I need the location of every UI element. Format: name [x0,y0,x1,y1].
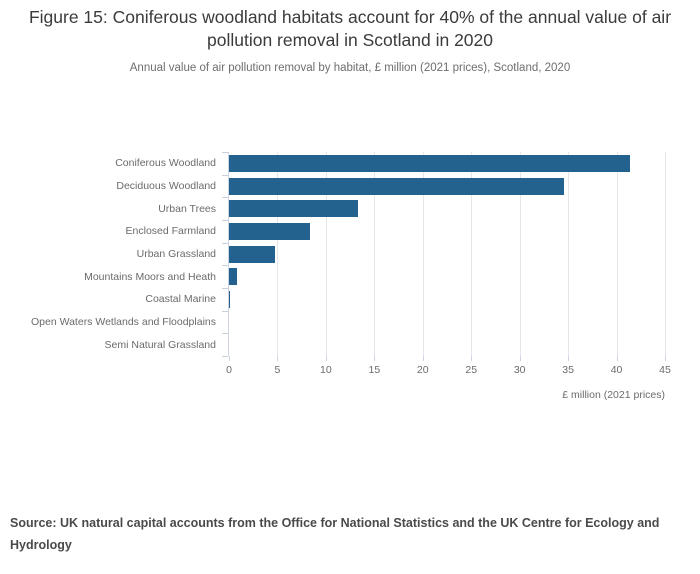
x-axis-tick [277,356,278,361]
x-axis-tick [520,356,521,361]
bar[interactable] [229,291,230,308]
y-axis-category-label: Urban Grassland [0,248,216,260]
x-axis-tick [423,356,424,361]
y-axis-tick [222,311,228,312]
title-block: Figure 15: Coniferous woodland habitats … [0,6,700,76]
page-title: Figure 15: Coniferous woodland habitats … [0,6,700,52]
chart-plot-wrapper: Coniferous WoodlandDeciduous WoodlandUrb… [0,140,700,370]
bar[interactable] [229,155,630,172]
x-gridline [568,152,569,356]
x-axis-tick-label: 5 [275,364,281,376]
x-axis-tick [374,356,375,361]
bar[interactable] [229,246,275,263]
x-axis-tick [617,356,618,361]
y-axis-tick [222,220,228,221]
x-axis-tick [229,356,230,361]
y-axis-category-label: Semi Natural Grassland [0,339,216,351]
x-axis-tick [326,356,327,361]
y-axis-category-label: Open Waters Wetlands and Floodplains [0,316,216,328]
x-axis-tick-label: 20 [417,364,429,376]
x-gridline [665,152,666,356]
bar[interactable] [229,200,358,217]
y-axis-tick [222,333,228,334]
x-axis-tick-label: 10 [320,364,332,376]
x-axis-tick-label: 40 [611,364,623,376]
y-axis-category-label: Enclosed Farmland [0,225,216,237]
x-axis-tick-label: 15 [368,364,380,376]
y-axis-tick [222,175,228,176]
y-axis-tick [222,356,228,357]
y-axis-tick [222,243,228,244]
y-axis-tick [222,197,228,198]
x-axis-tick-label: 35 [562,364,574,376]
x-axis-tick [665,356,666,361]
plot-area: 051015202530354045£ million (2021 prices… [229,152,665,356]
y-axis-tick [222,152,228,153]
figure-container: Figure 15: Coniferous woodland habitats … [0,0,700,574]
bar[interactable] [229,178,564,195]
y-axis-category-label: Mountains Moors and Heath [0,271,216,283]
y-axis-category-label: Deciduous Woodland [0,180,216,192]
y-axis-tick [222,288,228,289]
y-axis-tick [222,265,228,266]
x-axis-tick-label: 30 [514,364,526,376]
y-axis-category-label: Coastal Marine [0,293,216,305]
x-axis-tick [568,356,569,361]
x-axis-tick-label: 45 [659,364,671,376]
bar[interactable] [229,268,237,285]
y-axis-category-label: Coniferous Woodland [0,157,216,169]
bar[interactable] [229,223,310,240]
x-axis-title: £ million (2021 prices) [562,389,665,401]
chart-subtitle: Annual value of air pollution removal by… [0,61,700,76]
y-axis-category-label: Urban Trees [0,203,216,215]
source-note: Source: UK natural capital accounts from… [10,512,682,556]
x-axis-tick-label: 0 [226,364,232,376]
y-axis-category-labels: Coniferous WoodlandDeciduous WoodlandUrb… [0,152,216,356]
x-axis-tick [471,356,472,361]
x-gridline [617,152,618,356]
x-axis-tick-label: 25 [465,364,477,376]
